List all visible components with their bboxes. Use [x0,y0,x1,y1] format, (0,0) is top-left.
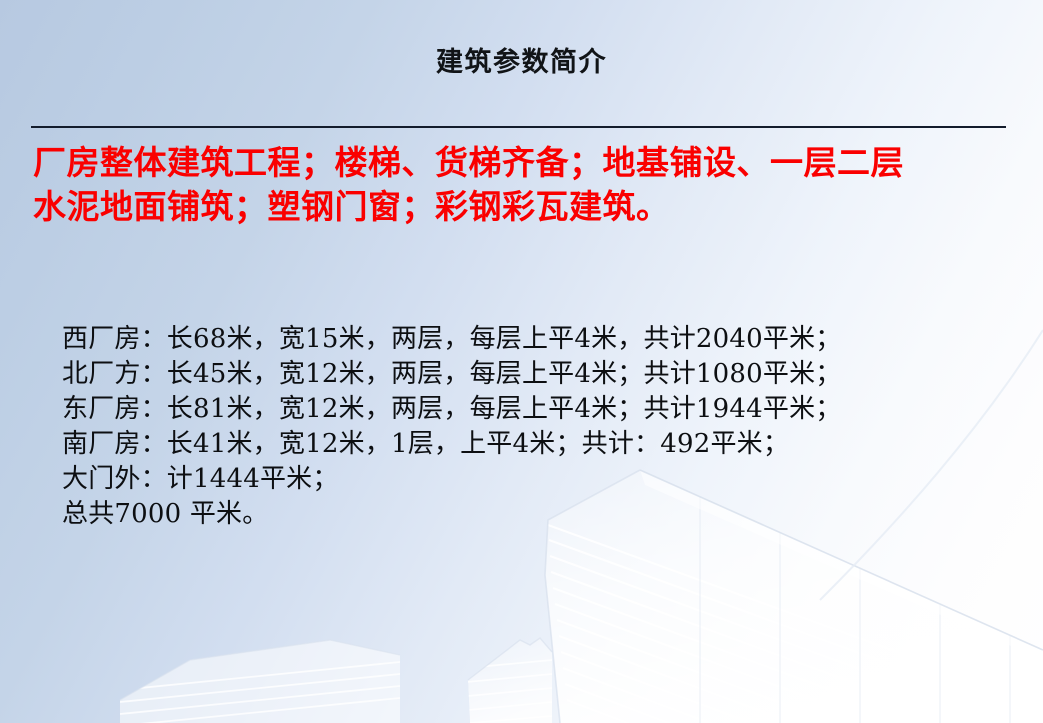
parameter-line-west-workshop: 西厂房：长68米，宽15米，两层，每层上平4米，共计2040平米； [62,322,1022,357]
parameter-line-south-workshop: 南厂房：长41米，宽12米，1层，上平4米；共计：492平米； [62,427,1022,462]
headline-line: 厂房整体建筑工程；楼梯、货梯齐备；地基铺设、一层二层 [33,141,1018,185]
slide-canvas: 建筑参数简介 厂房整体建筑工程；楼梯、货梯齐备；地基铺设、一层二层 水泥地面铺筑… [0,0,1043,723]
parameter-line-east-workshop: 东厂房：长81米，宽12米，两层，每层上平4米；共计1944平米； [62,392,1022,427]
parameter-line-gate-area: 大门外：计1444平米； [62,462,1022,497]
headline-line: 水泥地面铺筑；塑钢门窗；彩钢彩瓦建筑。 [33,185,1018,229]
parameter-line-total-area: 总共7000 平米。 [62,497,1022,532]
parameter-list: 西厂房：长68米，宽15米，两层，每层上平4米，共计2040平米； 北厂方：长4… [62,322,1022,532]
parameter-line-north-workshop: 北厂方：长45米，宽12米，两层，每层上平4米；共计1080平米； [62,357,1022,392]
page-title: 建筑参数简介 [0,40,1043,79]
title-divider [31,126,1006,128]
headline-block: 厂房整体建筑工程；楼梯、货梯齐备；地基铺设、一层二层 水泥地面铺筑；塑钢门窗；彩… [33,141,1018,229]
